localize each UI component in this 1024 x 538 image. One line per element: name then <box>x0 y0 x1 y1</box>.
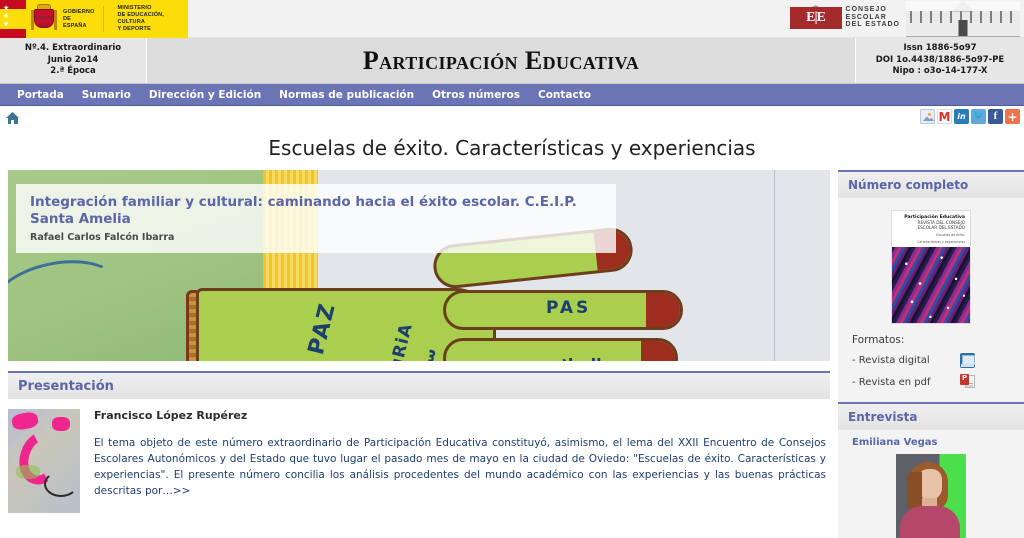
gov-bar-spacer <box>188 0 790 37</box>
sidebar-numero-completo: Número completo Participación Educativa … <box>838 170 1024 402</box>
cee-line1: CONSEJO <box>846 6 900 14</box>
gmail-icon[interactable]: M <box>937 109 952 124</box>
sidebar-title-entrevista: Entrevista <box>848 410 917 424</box>
gobierno-line2: DE ESPAÑA <box>63 16 95 30</box>
building-engraving-image <box>906 1 1020 37</box>
logo-divider <box>103 6 104 32</box>
journal-title: Participación Educativa <box>363 46 639 76</box>
twitter-icon[interactable]: 🐦 <box>971 109 986 124</box>
spain-coat-of-arms-icon <box>31 4 57 34</box>
journal-cover-thumbnail[interactable]: Participación Educativa REVISTA DEL CONS… <box>891 210 971 324</box>
cover-text-block: Participación Educativa REVISTA DEL CONS… <box>892 211 970 249</box>
identifiers: Issn 1886-5o97 DOI 1o.4438/1886-5o97-PE … <box>856 38 1024 83</box>
cover-artwork <box>892 247 971 323</box>
linkedin-icon[interactable]: in <box>954 109 969 124</box>
nav-item-sumario[interactable]: Sumario <box>73 86 140 104</box>
formats-list: Formatos: - Revista digital - Revista en… <box>838 332 1024 390</box>
content-column: PAZ TouRiA سلام PAS السلام Integración f… <box>8 170 830 513</box>
drawing-word-pas: PAS <box>546 298 591 318</box>
addthis-plus-icon[interactable]: + <box>1005 109 1020 124</box>
cover-tagline-2: Características y experiencias <box>897 240 965 244</box>
nav-item-direccion[interactable]: Dirección y Edición <box>140 86 270 104</box>
issue-date: Junio 2o14 <box>48 55 99 67</box>
section-header-presentacion: Presentación <box>8 371 830 399</box>
cover-wrapper: Participación Educativa REVISTA DEL CONS… <box>838 198 1024 332</box>
nipo-value: Nipo : o3o-14-177-X <box>893 66 988 78</box>
page-root: ★★★ GOBIERNO DE ESPAÑA MINISTERIO DE EDU… <box>0 0 1024 538</box>
issue-info: Nº.4. Extraordinario Junio 2o14 2.ª Époc… <box>0 38 146 83</box>
interview-photo-wrapper <box>838 454 1024 538</box>
gobierno-line1: GOBIERNO <box>63 9 95 16</box>
format-label-pdf: - Revista en pdf <box>852 377 960 388</box>
nav-item-normas[interactable]: Normas de publicación <box>270 86 423 104</box>
interview-person-photo[interactable] <box>896 454 966 538</box>
drawing-word-arabic2: السلام <box>550 355 602 361</box>
consejo-escolar-header: E|E CONSEJO ESCOLAR DEL ESTADO <box>790 0 1024 37</box>
banner-caption[interactable]: Integración familiar y cultural: caminan… <box>16 184 616 253</box>
consejo-escolar-label: CONSEJO ESCOLAR DEL ESTADO <box>846 6 900 29</box>
ministerio-line2: DE EDUCACIÓN, CULTURA <box>117 12 188 26</box>
pdf-icon[interactable] <box>960 374 975 390</box>
presentacion-thumbnail-image[interactable] <box>8 409 80 513</box>
journal-title-area: Participación Educativa <box>146 38 856 83</box>
cee-line3: DEL ESTADO <box>846 21 900 29</box>
masthead: Nº.4. Extraordinario Junio 2o14 2.ª Époc… <box>0 38 1024 84</box>
banner-article-title[interactable]: Integración familiar y cultural: caminan… <box>30 194 604 228</box>
cover-tagline-1: Escuelas de éxito. <box>897 233 965 237</box>
sidebar-title-numero-completo: Número completo <box>848 178 968 192</box>
home-icon[interactable] <box>6 112 19 124</box>
gobierno-de-espana-logo[interactable]: ★★★ GOBIERNO DE ESPAÑA MINISTERIO DE EDU… <box>0 0 188 38</box>
interview-person-name[interactable]: Emiliana Vegas <box>838 430 1024 454</box>
facebook-icon[interactable]: f <box>988 109 1003 124</box>
ministerio-line1: MINISTERIO <box>117 5 188 12</box>
presentacion-author: Francisco López Rupérez <box>94 409 826 422</box>
nav-item-portada[interactable]: Portada <box>8 86 73 104</box>
government-bar: ★★★ GOBIERNO DE ESPAÑA MINISTERIO DE EDU… <box>0 0 1024 38</box>
issue-number: Nº.4. Extraordinario <box>25 43 121 55</box>
banner-article-author: Rafael Carlos Falcón Ibarra <box>30 232 604 243</box>
format-label-digital: - Revista digital <box>852 355 960 366</box>
featured-article-banner[interactable]: PAZ TouRiA سلام PAS السلام Integración f… <box>8 170 830 361</box>
main-navigation: Portada Sumario Dirección y Edición Norm… <box>0 84 1024 106</box>
issn-value: Issn 1886-5o97 <box>903 43 976 55</box>
sidebar-entrevista: Entrevista Emiliana Vegas <box>838 402 1024 538</box>
cee-monogram: E|E <box>790 7 842 29</box>
ministerio-label: MINISTERIO DE EDUCACIÓN, CULTURA Y DEPOR… <box>117 5 188 33</box>
section-title-presentacion: Presentación <box>18 379 114 394</box>
presentacion-paragraph[interactable]: El tema objeto de este número extraordin… <box>94 435 826 499</box>
ministerio-line3: Y DEPORTE <box>117 26 188 33</box>
issue-epoch: 2.ª Época <box>50 66 95 78</box>
sidebar: Número completo Participación Educativa … <box>838 170 1024 538</box>
cee-line2: ESCOLAR <box>846 14 900 22</box>
page-title: Escuelas de éxito. Características y exp… <box>0 130 1024 170</box>
sidebar-header-numero-completo: Número completo <box>838 170 1024 198</box>
main-layout: PAZ TouRiA سلام PAS السلام Integración f… <box>0 170 1024 538</box>
gobierno-label: GOBIERNO DE ESPAÑA <box>63 9 95 30</box>
spain-flag-icon: ★★★ <box>0 0 26 38</box>
format-row-pdf[interactable]: - Revista en pdf <box>852 374 1024 390</box>
format-row-digital[interactable]: - Revista digital <box>852 353 1024 368</box>
share-toolbar: M in 🐦 f + <box>920 109 1020 124</box>
digital-magazine-icon[interactable] <box>960 353 975 368</box>
share-image-icon[interactable] <box>920 109 935 124</box>
sidebar-header-entrevista: Entrevista <box>838 402 1024 430</box>
cover-subtitle-2: ESCOLAR DEL ESTADO <box>897 225 965 230</box>
presentacion-text: Francisco López Rupérez El tema objeto d… <box>94 409 826 513</box>
presentacion-body: Francisco López Rupérez El tema objeto d… <box>8 399 830 513</box>
nav-item-contacto[interactable]: Contacto <box>529 86 600 104</box>
breadcrumb-row: M in 🐦 f + <box>0 106 1024 130</box>
consejo-escolar-logo[interactable]: E|E CONSEJO ESCOLAR DEL ESTADO <box>790 6 900 31</box>
formats-label: Formatos: <box>852 334 1024 346</box>
nav-item-otros[interactable]: Otros números <box>423 86 529 104</box>
doi-value: DOI 1o.4438/1886-5o97-PE <box>876 55 1004 67</box>
